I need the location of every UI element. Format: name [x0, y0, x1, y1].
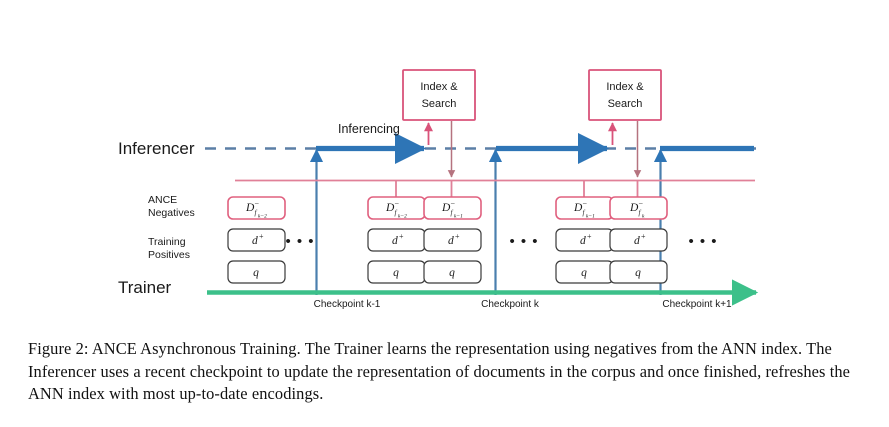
query-box-1-symbol: q	[253, 267, 259, 279]
negatives-box-3-subscript2: k−1	[454, 214, 463, 220]
negatives-box-2-subscript2: k−2	[398, 214, 407, 220]
index-and-search-box-1[interactable]: Index & Search	[403, 70, 475, 177]
negatives-box-5-symbol: D	[629, 202, 639, 214]
ance-asynchronous-training-diagram: Inferencer Inferencing Index & Search In…	[0, 0, 889, 320]
positive-doc-box-4-superscript: +	[587, 232, 592, 241]
negatives-box-3-symbol: D	[441, 202, 451, 214]
positive-doc-box-5-symbol: d	[634, 235, 640, 247]
negatives-box-4-subscript2: k−1	[586, 214, 595, 220]
positive-doc-box-2-superscript: +	[399, 232, 404, 241]
positive-doc-box-3-superscript: +	[455, 232, 460, 241]
checkpoint-label-k-minus-1: Checkpoint k-1	[314, 299, 381, 310]
index-search-box-1-line1: Index &	[420, 81, 458, 93]
figure-caption: Figure 2: ANCE Asynchronous Training. Th…	[28, 338, 864, 406]
negatives-box-1-superscript: −	[255, 199, 260, 208]
positive-doc-box-2-symbol: d	[392, 235, 398, 247]
index-search-box-1-rect[interactable]	[403, 70, 475, 120]
query-box-5-symbol: q	[635, 267, 641, 279]
negatives-box-3-superscript: −	[451, 199, 456, 208]
index-search-box-1-line2: Search	[422, 98, 457, 110]
ance-negatives-label-line1: ANCE	[148, 194, 177, 206]
negatives-box-4-superscript: −	[583, 199, 588, 208]
training-column-2: D − f k−2 d + q	[368, 197, 425, 283]
training-column-5: D − f k d + q	[610, 197, 667, 283]
positive-doc-box-1-symbol: d	[252, 235, 258, 247]
negatives-box-4-symbol: D	[573, 202, 583, 214]
query-box-4-symbol: q	[581, 267, 587, 279]
index-search-box-2-line1: Index &	[606, 81, 644, 93]
training-positives-label-line1: Training	[148, 236, 186, 248]
negatives-box-2-superscript: −	[395, 199, 400, 208]
training-column-1: D − f k−2 d + q	[228, 197, 285, 283]
positive-doc-box-5-superscript: +	[641, 232, 646, 241]
training-column-3: D − f k−1 d + q	[424, 197, 481, 283]
checkpoint-labels: Checkpoint k-1 Checkpoint k Checkpoint k…	[314, 299, 732, 310]
query-box-2-symbol: q	[393, 267, 399, 279]
negatives-box-2-symbol: D	[385, 202, 395, 214]
ance-negatives-label-line2: Negatives	[148, 207, 195, 219]
ellipsis-3: • • •	[688, 233, 717, 250]
checkpoint-label-k-plus-1: Checkpoint k+1	[662, 299, 732, 310]
inferencer-lane-label: Inferencer	[118, 139, 195, 158]
ellipsis-1: • • •	[285, 233, 314, 250]
checkpoint-label-k: Checkpoint k	[481, 299, 540, 310]
query-box-3-symbol: q	[449, 267, 455, 279]
negatives-box-1-symbol: D	[245, 202, 255, 214]
negatives-box-5-superscript: −	[639, 199, 644, 208]
trainer-lane-label: Trainer	[118, 278, 172, 297]
positive-doc-box-4-symbol: d	[580, 235, 586, 247]
index-search-box-2-rect[interactable]	[589, 70, 661, 120]
figure-container: Inferencer Inferencing Index & Search In…	[0, 0, 889, 427]
training-column-4: D − f k−1 d + q	[556, 197, 613, 283]
inferencer-lane: Inferencer Inferencing	[118, 122, 762, 158]
inferencing-label: Inferencing	[338, 122, 400, 136]
negatives-box-1-subscript2: k−2	[258, 214, 267, 220]
side-labels: ANCE Negatives Training Positives	[148, 194, 195, 261]
index-search-box-2-line2: Search	[608, 98, 643, 110]
training-positives-label-line2: Positives	[148, 249, 190, 261]
positive-doc-box-1-superscript: +	[259, 232, 264, 241]
positive-doc-box-3-symbol: d	[448, 235, 454, 247]
ellipsis-2: • • •	[509, 233, 538, 250]
index-and-search-box-2[interactable]: Index & Search	[589, 70, 661, 177]
